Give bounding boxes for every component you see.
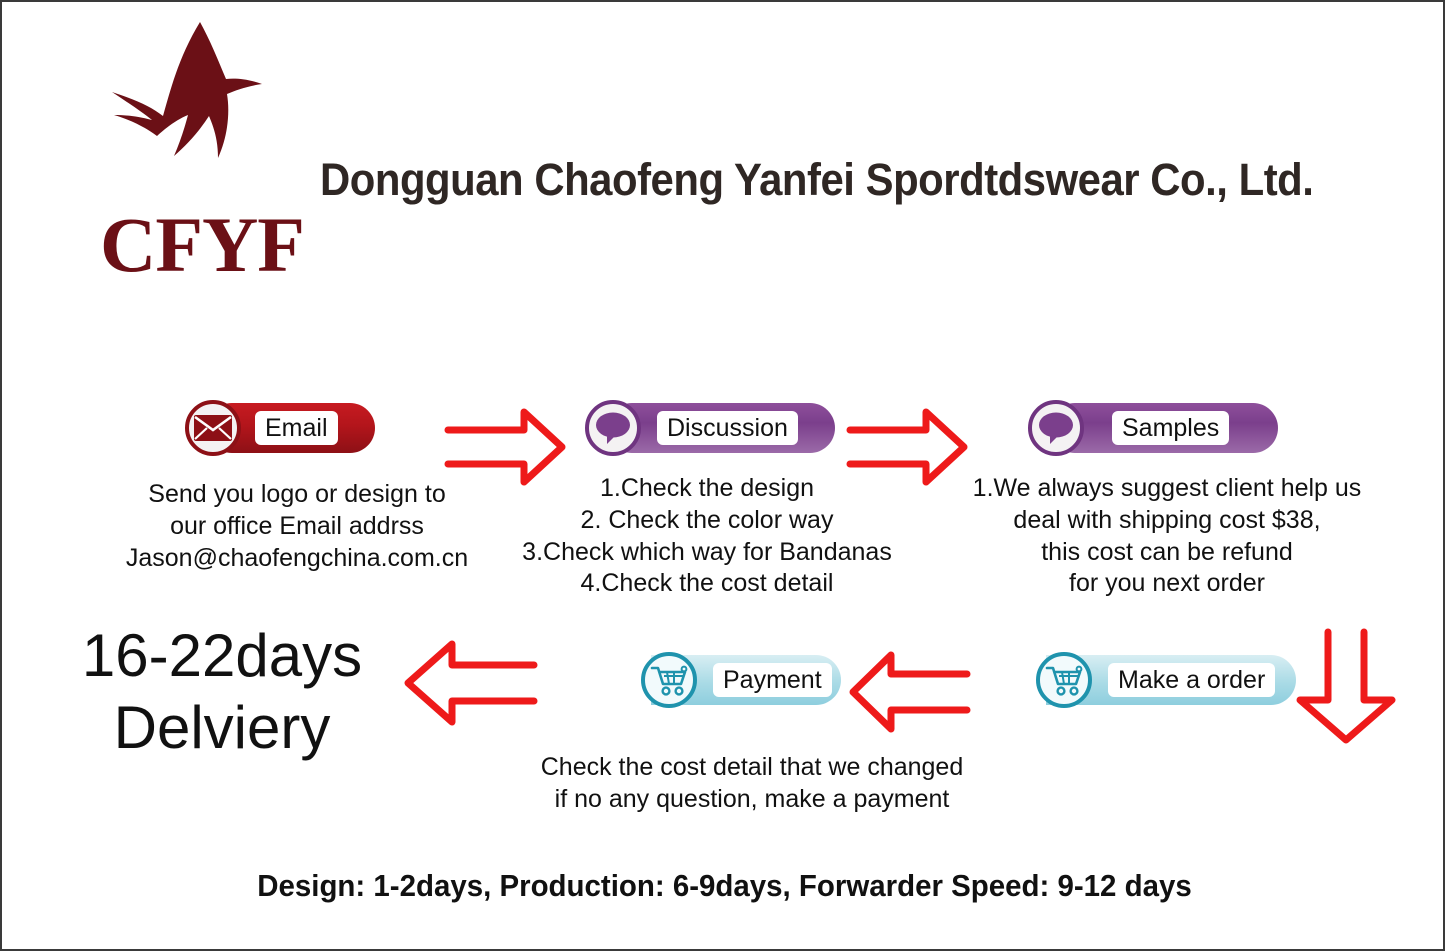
delivery-line-2: Delviery <box>52 692 392 764</box>
company-title: Dongguan Chaofeng Yanfei Spordtdswear Co… <box>320 154 1306 206</box>
badge-discussion[interactable]: Discussion <box>585 400 835 456</box>
badge-email-label: Email <box>255 411 338 445</box>
badge-discussion-circle <box>585 400 641 456</box>
caption-email-line-3: Jason@chaofengchina.com.cn <box>77 543 517 575</box>
delivery-time-text: 16-22days Delviery <box>52 620 392 764</box>
process-flow-infographic: CFYF Dongguan Chaofeng Yanfei Spordtdswe… <box>0 0 1445 951</box>
badge-discussion-label: Discussion <box>657 411 798 445</box>
caption-samples-line-4: for you next order <box>947 568 1387 600</box>
speech-bubble-icon <box>1037 411 1075 445</box>
shopping-cart-icon <box>1045 664 1083 696</box>
caption-samples-line-1: 1.We always suggest client help us <box>947 473 1387 505</box>
footer-timeline-text: Design: 1-2days, Production: 6-9days, Fo… <box>38 868 1411 904</box>
speech-bubble-icon <box>594 411 632 445</box>
caption-samples-line-2: deal with shipping cost $38, <box>947 505 1387 537</box>
caption-payment-line-2: if no any question, make a payment <box>507 784 997 816</box>
caption-payment: Check the cost detail that we changed if… <box>507 752 997 816</box>
badge-make-a-order[interactable]: Make a order <box>1036 652 1301 708</box>
caption-payment-line-1: Check the cost detail that we changed <box>507 752 997 784</box>
caption-samples-line-3: this cost can be refund <box>947 537 1387 569</box>
delivery-line-1: 16-22days <box>82 622 362 689</box>
caption-discussion-line-3: 3.Check which way for Bandanas <box>497 537 917 569</box>
caption-samples: 1.We always suggest client help us deal … <box>947 473 1387 600</box>
envelope-icon <box>193 414 233 442</box>
caption-discussion-line-2: 2. Check the color way <box>497 505 917 537</box>
shopping-cart-icon <box>650 664 688 696</box>
swallow-bird-logo-icon <box>108 20 308 195</box>
arrow-samples-to-order-icon <box>1290 624 1402 748</box>
badge-samples[interactable]: Samples <box>1028 400 1278 456</box>
badge-payment-label: Payment <box>713 663 832 697</box>
caption-email-line-2: our office Email addrss <box>77 511 517 543</box>
badge-make-a-order-circle <box>1036 652 1092 708</box>
caption-discussion: 1.Check the design 2. Check the color wa… <box>497 473 917 600</box>
badge-make-a-order-label: Make a order <box>1108 663 1275 697</box>
badge-samples-label: Samples <box>1112 411 1229 445</box>
brand-logo: CFYF <box>98 20 338 280</box>
brand-abbreviation: CFYF <box>100 206 304 284</box>
badge-payment[interactable]: Payment <box>641 652 846 708</box>
caption-email: Send you logo or design to our office Em… <box>77 479 517 574</box>
badge-payment-circle <box>641 652 697 708</box>
arrow-payment-to-delivery-icon <box>400 634 542 732</box>
caption-discussion-line-4: 4.Check the cost detail <box>497 568 917 600</box>
badge-email-circle <box>185 400 241 456</box>
badge-samples-circle <box>1028 400 1084 456</box>
badge-email[interactable]: Email <box>185 400 375 456</box>
arrow-order-to-payment-icon <box>845 646 975 738</box>
